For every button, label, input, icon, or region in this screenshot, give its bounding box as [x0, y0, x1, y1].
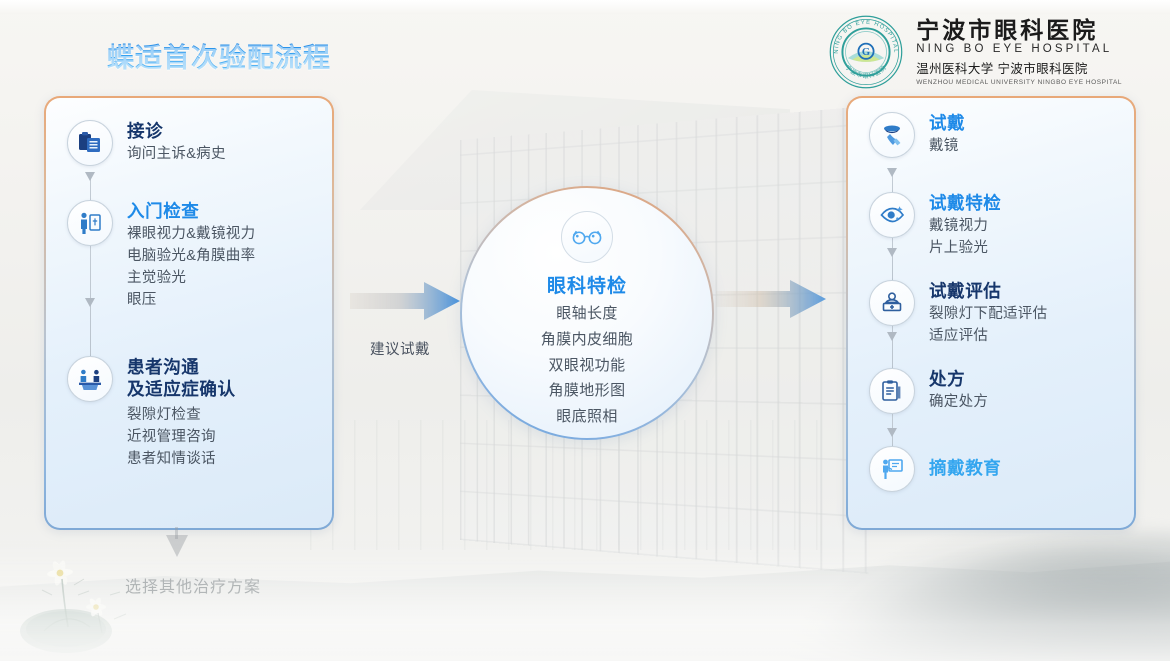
- recommend-trial-label: 建议试戴: [355, 338, 445, 359]
- hospital-logo: NING BO EYE HOSPITAL 宁波市眼科医院 G 宁波市眼科医院 N…: [828, 14, 1122, 90]
- eyeglasses-icon: [561, 211, 613, 263]
- special-exam-line-3: 双眼视功能: [463, 353, 711, 379]
- top-white-band: [0, 0, 1170, 14]
- step-entry-exam-line-3: 主觉验光: [127, 267, 255, 289]
- right-connector-arrow-1: [887, 168, 897, 177]
- step-trial-special-exam[interactable]: 试戴特检 戴镜视力 片上验光: [869, 192, 1001, 259]
- hospital-logo-text: 宁波市眼科医院 NING BO EYE HOSPITAL 温州医科大学 宁波市眼…: [916, 18, 1122, 87]
- step-patient-communication-line-3: 患者知情谈话: [127, 448, 236, 470]
- alternative-treatment-label: 选择其他治疗方案: [108, 573, 278, 597]
- step-entry-exam-text: 入门检查 裸眼视力&戴镜视力 电脑验光&角膜曲率 主觉验光 眼压: [127, 200, 255, 311]
- step-trial-special-exam-line-1: 戴镜视力: [929, 215, 1001, 237]
- special-exam-heading: 眼科特检: [463, 271, 711, 298]
- recommend-trial-arrow: [350, 278, 460, 324]
- step-entry-exam-line-2: 电脑验光&角膜曲率: [127, 245, 255, 267]
- to-trial-card-arrow: [716, 276, 826, 322]
- building-podium: [310, 420, 830, 550]
- consultation-desk-icon: [67, 356, 113, 402]
- special-exam-line-1: 眼轴长度: [463, 301, 711, 327]
- hospital-sub-en: WENZHOU MEDICAL UNIVERSITY NINGBO EYE HO…: [916, 79, 1122, 87]
- eye-sparkle-icon: [869, 192, 915, 238]
- step-trial-wear[interactable]: 试戴 戴镜: [869, 112, 965, 158]
- step-intake-heading: 接诊: [127, 121, 226, 143]
- special-exam-list: 眼轴长度 角膜内皮细胞 双眼视功能 角膜地形图 眼底照相: [463, 301, 711, 430]
- step-trial-assessment[interactable]: 试戴评估 裂隙灯下配适评估 适应评估: [869, 280, 1047, 347]
- clipboard-document-icon: [67, 120, 113, 166]
- step-trial-assessment-line-1: 裂隙灯下配适评估: [929, 303, 1047, 325]
- step-entry-exam-line-1: 裸眼视力&戴镜视力: [127, 223, 255, 245]
- step-prescription[interactable]: 处方 确定处方: [869, 368, 988, 414]
- right-connector-arrow-4: [887, 428, 897, 437]
- hospital-seal-icon: NING BO EYE HOSPITAL 宁波市眼科医院 G: [828, 14, 904, 90]
- step-trial-special-exam-text: 试戴特检 戴镜视力 片上验光: [929, 192, 1001, 259]
- step-entry-exam-heading: 入门检查: [127, 201, 255, 223]
- step-prescription-line-1: 确定处方: [929, 391, 988, 413]
- slit-lamp-icon: [869, 280, 915, 326]
- step-patient-communication-heading-2: 及适应症确认: [127, 379, 236, 401]
- step-intake[interactable]: 接诊 询问主诉&病史: [67, 120, 226, 166]
- step-trial-wear-line-1: 戴镜: [929, 135, 965, 157]
- step-patient-communication-line-1: 裂隙灯检查: [127, 404, 236, 426]
- special-exam-line-2: 角膜内皮细胞: [463, 327, 711, 353]
- step-entry-exam[interactable]: 入门检查 裸眼视力&戴镜视力 电脑验光&角膜曲率 主觉验光 眼压: [67, 200, 255, 311]
- step-patient-communication-text: 患者沟通 及适应症确认 裂隙灯检查 近视管理咨询 患者知情谈话: [127, 356, 236, 470]
- step-patient-communication[interactable]: 患者沟通 及适应症确认 裂隙灯检查 近视管理咨询 患者知情谈话: [67, 356, 236, 470]
- step-removal-education[interactable]: 摘戴教育: [869, 446, 1001, 492]
- step-trial-special-exam-heading: 试戴特检: [929, 193, 1001, 215]
- patient-standing-chart-icon: [67, 200, 113, 246]
- branch-down-arrow-icon: [166, 535, 188, 557]
- special-exam-line-4: 角膜地形图: [463, 378, 711, 404]
- intake-process-card: 接诊 询问主诉&病史 入门检查 裸眼视力&戴镜视力 电脑验光&角膜曲率 主觉验光…: [44, 96, 334, 530]
- special-exam-circle[interactable]: 眼科特检 眼轴长度 角膜内皮细胞 双眼视功能 角膜地形图 眼底照相: [462, 188, 712, 438]
- lens-trial-icon: [869, 112, 915, 158]
- step-entry-exam-line-4: 眼压: [127, 289, 255, 311]
- hospital-sub-cn: 温州医科大学 宁波市眼科医院: [916, 61, 1122, 77]
- step-intake-line-1: 询问主诉&病史: [127, 143, 226, 165]
- intake-card-inner: 接诊 询问主诉&病史 入门检查 裸眼视力&戴镜视力 电脑验光&角膜曲率 主觉验光…: [46, 98, 332, 528]
- hospital-name-cn: 宁波市眼科医院: [916, 18, 1122, 43]
- step-prescription-text: 处方 确定处方: [929, 368, 988, 414]
- step-patient-communication-heading-1: 患者沟通: [127, 357, 236, 379]
- education-board-icon: [869, 446, 915, 492]
- step-trial-wear-heading: 试戴: [929, 113, 965, 135]
- trial-fitting-card: 试戴 戴镜 试戴特检 戴镜视力 片上验光: [846, 96, 1136, 530]
- step-patient-communication-line-2: 近视管理咨询: [127, 426, 236, 448]
- trial-card-inner: 试戴 戴镜 试戴特检 戴镜视力 片上验光: [848, 98, 1134, 528]
- step-trial-wear-text: 试戴 戴镜: [929, 112, 965, 158]
- step-trial-assessment-heading: 试戴评估: [929, 281, 1047, 303]
- step-intake-text: 接诊 询问主诉&病史: [127, 120, 226, 166]
- hospital-name-en: NING BO EYE HOSPITAL: [916, 43, 1122, 57]
- step-trial-assessment-text: 试戴评估 裂隙灯下配适评估 适应评估: [929, 280, 1047, 347]
- step-removal-education-text: 摘戴教育: [929, 446, 1001, 492]
- prescription-clipboard-icon: [869, 368, 915, 414]
- special-exam-line-5: 眼底照相: [463, 404, 711, 430]
- svg-text:G: G: [862, 47, 870, 58]
- alternative-treatment-branch: 选择其他治疗方案: [108, 535, 338, 605]
- step-removal-education-heading: 摘戴教育: [929, 447, 1001, 480]
- step-trial-assessment-line-2: 适应评估: [929, 325, 1047, 347]
- left-connector-arrow-1: [85, 172, 95, 181]
- step-trial-special-exam-line-2: 片上验光: [929, 237, 1001, 259]
- page-title: 蝶适首次验配流程: [107, 36, 331, 75]
- step-prescription-heading: 处方: [929, 369, 988, 391]
